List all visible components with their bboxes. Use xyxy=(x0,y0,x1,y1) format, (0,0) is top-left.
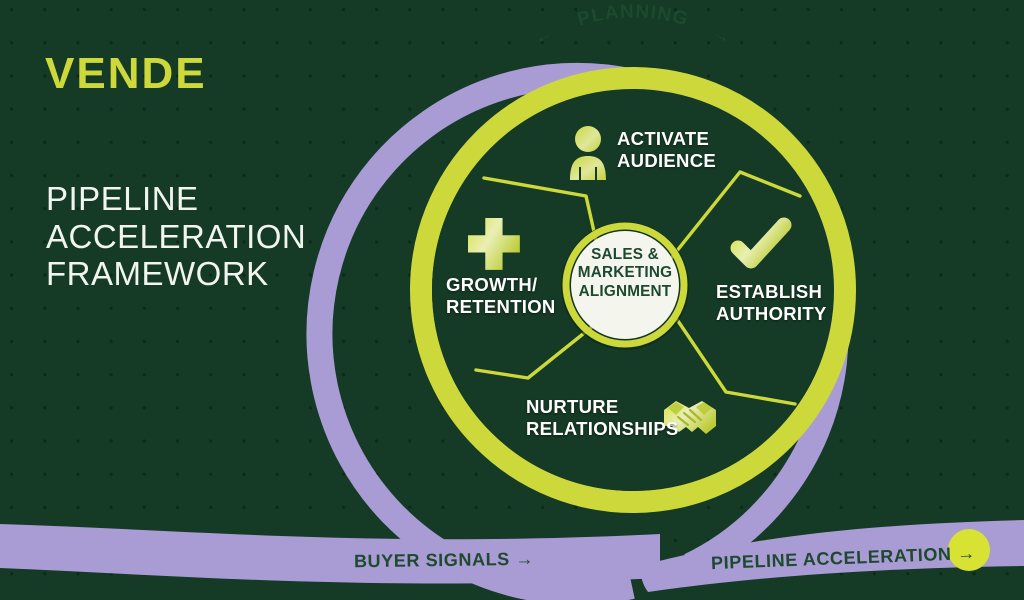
planning-ring-caption: ← PLANNING → xyxy=(530,1,737,49)
nurture-line-2: RELATIONSHIPS xyxy=(526,418,679,440)
logo-wordmark: VENDE xyxy=(45,49,207,98)
svg-text:← P: ← PLANNING → xyxy=(530,1,737,49)
planning-ring-text: PLANNING xyxy=(575,1,691,30)
buyer-signals-band xyxy=(0,524,660,584)
planning-arrow-right: → xyxy=(708,21,736,49)
establish-line-2: AUTHORITY xyxy=(716,303,827,325)
pipeline-acceleration-arrow-icon: → xyxy=(957,543,976,564)
headline-line-3: FRAMEWORK xyxy=(46,255,346,293)
headline-line-2: ACCELERATION xyxy=(46,218,346,256)
page-title: PIPELINE ACCELERATION FRAMEWORK xyxy=(46,180,346,293)
growth-line-1: GROWTH/ xyxy=(446,274,556,296)
headline-line-1: PIPELINE xyxy=(46,180,346,218)
vende-logo[interactable]: VENDE xyxy=(45,52,207,96)
buyer-signals-text: BUYER SIGNALS xyxy=(354,549,510,571)
infographic-canvas: ← PLANNING → xyxy=(0,0,1024,600)
center-line-3: ALIGNMENT xyxy=(567,283,683,301)
buyer-signals-label[interactable]: BUYER SIGNALS → xyxy=(354,549,534,573)
planning-arrow-left: ← xyxy=(530,21,558,49)
growth-line-2: RETENTION xyxy=(446,296,556,318)
nurture-line-1: NURTURE xyxy=(526,396,679,418)
center-line-1: SALES & xyxy=(567,246,683,264)
quadrant-label-establish-authority[interactable]: ESTABLISH AUTHORITY xyxy=(716,281,827,325)
buyer-signals-arrow-icon: → xyxy=(515,549,534,569)
establish-line-1: ESTABLISH xyxy=(716,281,827,303)
quadrant-label-activate-audience[interactable]: ACTIVATE AUDIENCE xyxy=(617,128,716,172)
center-line-2: MARKETING xyxy=(567,264,683,282)
activate-line-1: ACTIVATE xyxy=(617,128,716,150)
activate-line-2: AUDIENCE xyxy=(617,150,716,172)
center-hub-label: SALES & MARKETING ALIGNMENT xyxy=(567,246,683,301)
quadrant-label-nurture-relationships[interactable]: NURTURE RELATIONSHIPS xyxy=(526,396,679,440)
quadrant-label-growth-retention[interactable]: GROWTH/ RETENTION xyxy=(446,274,556,318)
